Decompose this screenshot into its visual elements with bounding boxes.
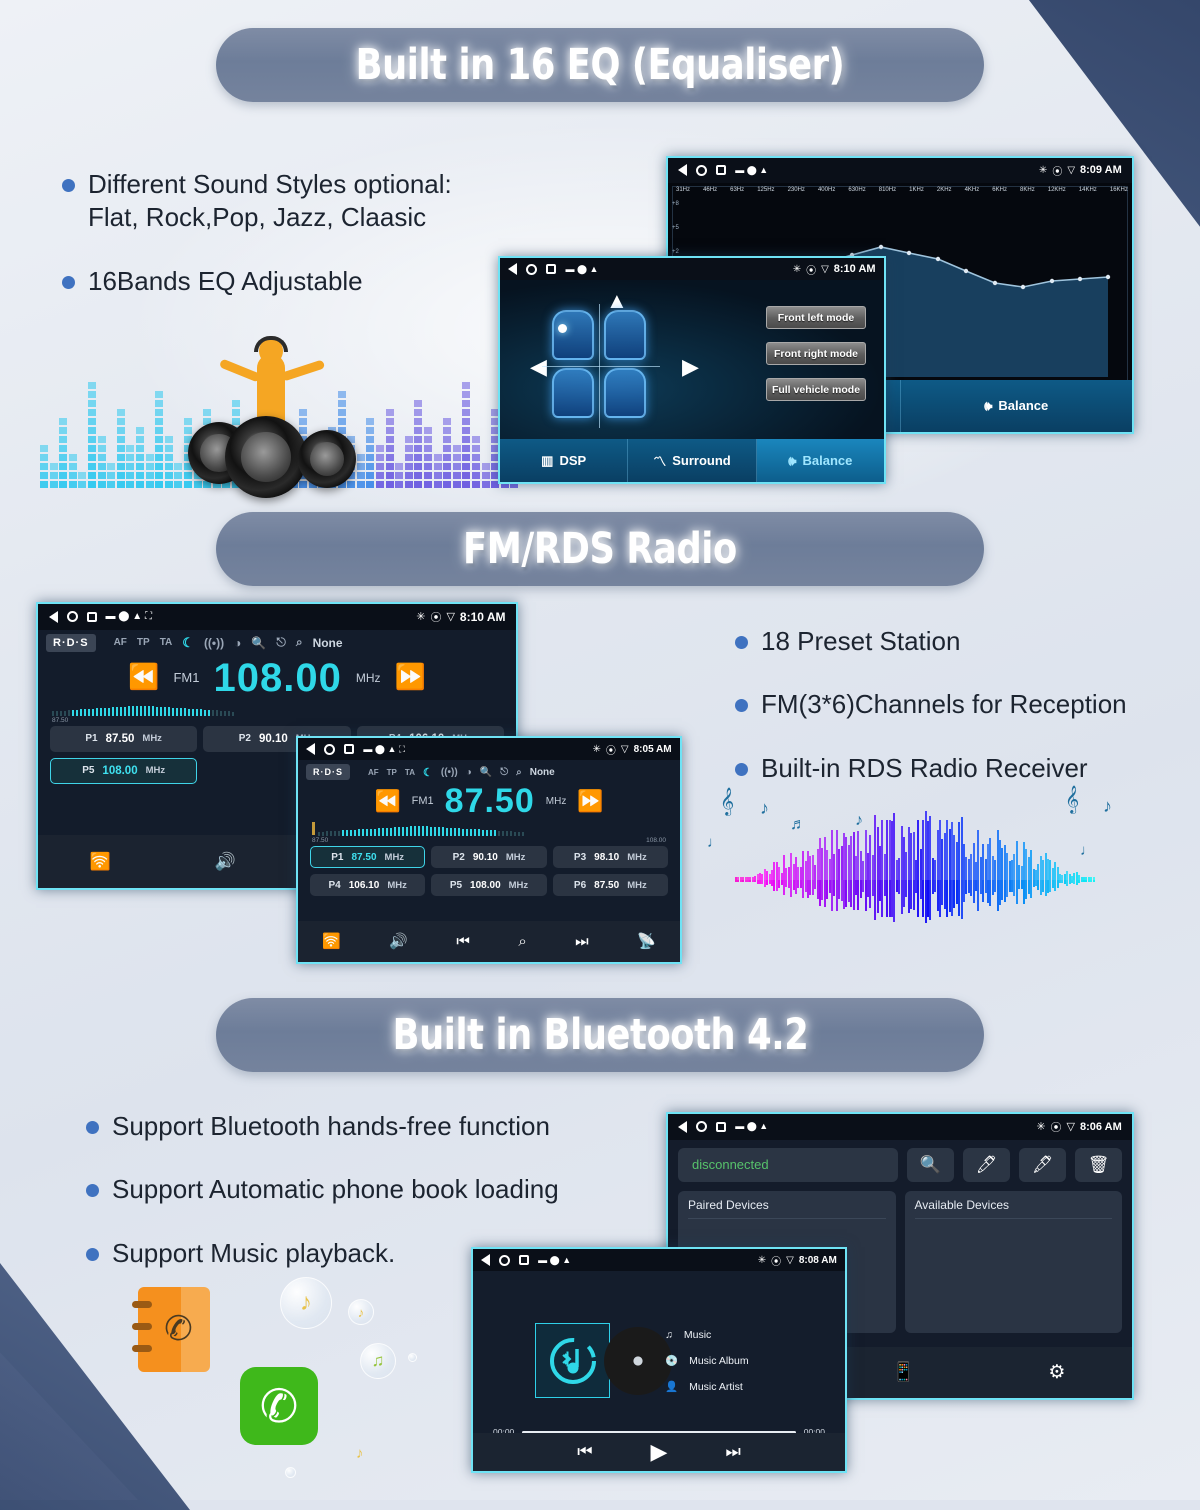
next-icon[interactable]: ⏭ xyxy=(725,1442,740,1462)
tuner-tick xyxy=(208,710,210,716)
tuner-tick xyxy=(342,830,344,836)
list-item: Support Automatic phone book loading xyxy=(86,1173,606,1206)
paired-devices-title: Paired Devices xyxy=(688,1198,886,1219)
frequency-display: 108.00 xyxy=(213,658,341,698)
signal-icon[interactable]: ((•)) xyxy=(441,767,458,778)
eq-freq-label: 8KHz xyxy=(1020,187,1035,193)
balance-position-dot[interactable] xyxy=(558,324,567,333)
meta-row: ♫Music xyxy=(665,1329,749,1341)
pty-label[interactable]: None xyxy=(313,636,343,650)
balance-icon: 🕪 xyxy=(984,398,992,414)
recents-icon[interactable] xyxy=(716,1122,726,1132)
status-time: 8:10 AM xyxy=(460,610,506,624)
tab-label: Balance xyxy=(998,398,1048,413)
preset-unit: MHz xyxy=(146,765,166,776)
arrow-right-icon[interactable]: ▶ xyxy=(682,354,699,380)
tuner-tick xyxy=(470,829,472,836)
bluetooth-icon: ✳ xyxy=(593,744,601,755)
preset-unit: MHz xyxy=(509,880,529,891)
bullet-list-eq: Different Sound Styles optional: Flat, R… xyxy=(62,168,492,320)
list-item: 18 Preset Station xyxy=(735,625,1145,658)
tuner-tick xyxy=(220,711,222,716)
play-icon[interactable]: ▶ xyxy=(651,1439,668,1465)
tuner-tick xyxy=(136,706,138,716)
band-label: FM1 xyxy=(173,670,199,685)
banner-title-eq: Built in 16 EQ (Equaliser) xyxy=(356,40,845,90)
track-metadata: ♫Music💿Music Album👤Music Artist xyxy=(665,1329,749,1393)
surround-icon: 〽 xyxy=(653,451,666,470)
af-indicator[interactable]: AF xyxy=(368,768,379,777)
tp-indicator[interactable]: TP xyxy=(387,768,397,777)
radio-main[interactable]: R·D·S AF TP TA ☾ ((•)) ◑ 🔍 ⎋ ⌕ None ⏪ FM… xyxy=(298,760,680,943)
preset-number: P1 xyxy=(331,852,343,863)
tuner-tick xyxy=(414,826,416,836)
list-item: 16Bands EQ Adjustable xyxy=(62,265,492,298)
back-icon[interactable] xyxy=(508,263,517,275)
preset-unit: MHz xyxy=(627,852,647,863)
mode-button-front-left-mode[interactable]: Front left mode xyxy=(766,306,866,329)
back-icon[interactable] xyxy=(678,164,687,176)
bullet-dot-icon xyxy=(62,276,75,289)
next-icon[interactable]: ⏭ xyxy=(575,933,589,950)
radio-screen-front[interactable]: ▬ ⬤ ▲ ⛶ ✳ ⦿ ▽ 8:05 AM R·D·S AF TP TA ☾ (… xyxy=(296,736,682,964)
device-list-icon[interactable]: 📱 xyxy=(891,1360,915,1384)
refresh-icon[interactable]: ☾ xyxy=(182,635,194,651)
bullet-text: 18 Preset Station xyxy=(761,625,960,658)
stereo-icon[interactable]: ◑ xyxy=(234,636,241,650)
download-icon[interactable]: ⎋ xyxy=(500,767,508,778)
frequency-row[interactable]: ⏪ FM1 108.00 MHz ⏩ xyxy=(38,658,516,698)
bullet-dot-icon xyxy=(62,179,75,192)
seat-rear-right xyxy=(604,368,646,418)
tuner-tick xyxy=(514,832,516,836)
tuner-tick xyxy=(80,709,82,715)
preset-unit: MHz xyxy=(506,852,526,863)
tuner-tick xyxy=(172,708,174,716)
tray-icons: ▬ ⬤ ▲ xyxy=(538,1255,571,1266)
tuner-tick xyxy=(164,707,166,715)
tuner-tick xyxy=(410,826,412,836)
tuner-tick xyxy=(84,709,86,715)
mode-button-front-right-mode[interactable]: Front right mode xyxy=(766,342,866,365)
rds-badge: R·D·S xyxy=(46,634,96,652)
back-icon[interactable] xyxy=(481,1254,490,1266)
eq-freq-label: 630Hz xyxy=(848,187,865,193)
tuner-tick xyxy=(502,831,504,836)
album-icon: 💿 xyxy=(665,1354,678,1367)
status-time: 8:05 AM xyxy=(634,744,672,755)
banner-title-radio: FM/RDS Radio xyxy=(463,524,737,574)
rds-tab-icon[interactable]: 🛜 xyxy=(90,852,111,872)
status-time: 8:06 AM xyxy=(1080,1121,1122,1133)
preset-frequency: 90.10 xyxy=(259,733,288,745)
balance-pad[interactable]: ▲ ▼ ◀ ▶ Front left modeFront right modeF… xyxy=(500,280,884,461)
preset-unit: MHz xyxy=(387,880,407,891)
recents-icon[interactable] xyxy=(716,165,726,175)
eq-freq-label: 1KHz xyxy=(909,187,924,193)
tuner-tick xyxy=(64,711,66,716)
preset-number: P2 xyxy=(453,852,465,863)
tuner-tick xyxy=(232,712,234,716)
tuner-tick xyxy=(318,832,320,836)
eq-frequency-labels: 31Hz46Hz63Hz125Hz230Hz400Hz630Hz810Hz1KH… xyxy=(676,187,1128,193)
home-icon[interactable] xyxy=(696,165,707,176)
bullet-dot-icon xyxy=(86,1184,99,1197)
eq-freq-label: 2KHz xyxy=(937,187,952,193)
tray-icons: ▬ ⬤ ▲ xyxy=(735,165,768,176)
tuner-tick xyxy=(216,710,218,715)
music-note-icon: ♫ xyxy=(665,1329,673,1341)
rds-indicator-row[interactable]: R·D·S AF TP TA ☾ ((•)) ◑ 🔍 ⎋ ⌕ None xyxy=(38,630,516,652)
available-devices-title: Available Devices xyxy=(915,1198,1113,1219)
bt-note-glyph xyxy=(546,1334,600,1388)
eq-freq-label: 16KHz xyxy=(1110,187,1128,193)
tuner-tick xyxy=(346,830,348,836)
tab-label: Balance xyxy=(802,453,852,468)
arrow-left-icon[interactable]: ◀ xyxy=(530,354,547,380)
unlink-icon[interactable]: 🖋 xyxy=(1019,1148,1066,1182)
link-icon[interactable]: 🖊 xyxy=(963,1148,1010,1182)
tray-icons: ▬ ⬤ ▲ xyxy=(735,1121,768,1132)
back-icon[interactable] xyxy=(678,1121,687,1133)
home-icon[interactable] xyxy=(526,264,537,275)
preset-number: P6 xyxy=(574,880,586,891)
scan-icon[interactable]: ⌕ xyxy=(516,767,522,778)
seat-rear-left xyxy=(552,368,594,418)
seat-layout[interactable] xyxy=(552,310,647,420)
tuner-cursor[interactable] xyxy=(312,822,315,835)
tuner-tick xyxy=(474,829,476,836)
preset-p1[interactable]: P187.50MHz xyxy=(310,846,425,868)
preset-p5[interactable]: P5108.00MHz xyxy=(431,874,546,896)
tab-surround[interactable]: 〽Surround xyxy=(628,439,756,482)
preset-number: P1 xyxy=(85,733,97,744)
home-icon[interactable] xyxy=(696,1121,707,1132)
section-banner-bluetooth: Built in Bluetooth 4.2 xyxy=(216,998,984,1072)
music-main[interactable]: ♫Music💿Music Album👤Music Artist 00:00 00… xyxy=(473,1271,845,1455)
stereo-icon[interactable]: ◑ xyxy=(466,767,472,778)
bullet-text: Different Sound Styles optional: Flat, R… xyxy=(88,168,452,235)
location-icon: ⦿ xyxy=(606,742,616,757)
dsp-icon: ▥ xyxy=(541,453,553,469)
preset-unit: MHz xyxy=(627,880,647,891)
prev-icon[interactable]: ⏮ xyxy=(456,933,470,950)
balance-screen[interactable]: ▬ ⬤ ▲ ✳ ⦿ ▽ 8:10 AM ▲ ▼ ◀ ▶ Front left m… xyxy=(498,256,886,484)
tuner-tick xyxy=(196,709,198,715)
location-icon: ⦿ xyxy=(1052,163,1062,178)
tuner-tick xyxy=(92,709,94,716)
search-icon[interactable]: 🔍 xyxy=(480,767,492,778)
tuner-tick xyxy=(156,707,158,716)
location-icon: ⦿ xyxy=(1051,1119,1062,1135)
wifi-icon: ▽ xyxy=(821,264,829,275)
signal-icon[interactable]: ((•)) xyxy=(204,636,224,650)
preset-p4[interactable]: P4106.10MHz xyxy=(310,874,425,896)
preset-p2[interactable]: P290.10MHz xyxy=(431,846,546,868)
preset-frequency: 108.00 xyxy=(470,880,501,891)
preset-frequency: 90.10 xyxy=(473,852,498,863)
tab-balance[interactable]: 🕪Balance xyxy=(757,439,884,482)
gear-icon[interactable]: ⚙ xyxy=(1048,1361,1065,1384)
home-icon[interactable] xyxy=(67,611,78,622)
volume-icon[interactable]: 🔊 xyxy=(389,932,408,950)
eq-freq-label: 230Hz xyxy=(788,187,805,193)
tab-balance[interactable]: 🕪 Balance xyxy=(901,380,1133,432)
status-bar: ▬ ⬤ ▲ ⛶ ✳ ⦿ ▽ 8:10 AM xyxy=(38,604,516,630)
tuner-tick xyxy=(96,708,98,715)
tuner-tick xyxy=(148,706,150,715)
tuner-tick xyxy=(422,826,424,836)
preset-number: P4 xyxy=(328,880,340,891)
tuner-tick xyxy=(322,832,324,836)
tuner-tick xyxy=(204,710,206,716)
tuner-tick xyxy=(458,828,460,836)
tuner-scale[interactable]: 87.50 108.00 xyxy=(312,826,666,842)
bluetooth-icon: ✳ xyxy=(1036,1120,1045,1133)
tuner-tick xyxy=(362,829,364,836)
seek-down-icon[interactable]: ⏪ xyxy=(375,791,401,812)
rds-badge: R·D·S xyxy=(306,764,350,780)
tuner-tick xyxy=(494,830,496,836)
tuner-tick xyxy=(168,707,170,715)
tuner-tick xyxy=(120,707,122,716)
tray-icons: ▬ ⬤ ▲ ⛶ xyxy=(363,744,405,755)
bullet-dot-icon xyxy=(735,763,748,776)
meta-label: Music Album xyxy=(689,1355,749,1367)
scale-max-label: 108.00 xyxy=(646,837,666,844)
volume-icon[interactable]: 🔊 xyxy=(215,852,236,872)
balance-bottom-tabs[interactable]: ▥DSP〽Surround🕪Balance xyxy=(500,439,884,482)
scan-icon[interactable]: ⌕ xyxy=(296,635,303,650)
tuner-tick xyxy=(72,710,74,716)
tp-indicator[interactable]: TP xyxy=(137,637,150,648)
tuner-tick xyxy=(430,827,432,836)
bluetooth-music-icon xyxy=(535,1323,610,1398)
tab-label: DSP xyxy=(559,453,586,468)
status-time: 8:08 AM xyxy=(799,1255,837,1266)
tuner-tick xyxy=(160,707,162,716)
tuner-tick xyxy=(490,830,492,836)
preset-frequency: 98.10 xyxy=(594,852,619,863)
tuner-tick xyxy=(88,709,90,716)
back-icon[interactable] xyxy=(306,743,315,755)
preset-unit: MHz xyxy=(142,733,162,744)
tuner-tick xyxy=(366,829,368,836)
tuner-tick xyxy=(394,827,396,836)
list-item: Support Bluetooth hands-free function xyxy=(86,1110,606,1143)
bluetooth-icon: ✳ xyxy=(758,1255,766,1266)
tuner-tick xyxy=(224,711,226,716)
seek-up-icon[interactable]: ⏩ xyxy=(395,665,426,690)
meta-label: Music xyxy=(684,1329,711,1341)
wifi-icon: ▽ xyxy=(446,610,454,623)
meta-label: Music Artist xyxy=(689,1381,743,1393)
tuner-tick xyxy=(334,831,336,836)
list-item: Built-in RDS Radio Receiver xyxy=(735,752,1145,785)
tuner-tick xyxy=(438,827,440,836)
tuner-tick xyxy=(228,711,230,715)
tuner-tick xyxy=(510,831,512,836)
mode-button-group[interactable]: Front left modeFront right modeFull vehi… xyxy=(766,306,866,401)
tuner-tick xyxy=(386,828,388,836)
tuner-tick xyxy=(446,828,448,836)
home-icon[interactable] xyxy=(324,744,335,755)
tuner-tick xyxy=(104,708,106,716)
bluetooth-icon: ✳ xyxy=(416,610,425,623)
wifi-icon: ▽ xyxy=(786,1255,794,1266)
section-banner-radio: FM/RDS Radio xyxy=(216,512,984,586)
bluetooth-music-screen[interactable]: ▬ ⬤ ▲ ✳ ⦿ ▽ 8:08 AM ♫Music💿Music Album👤M… xyxy=(471,1247,847,1473)
tuner-tick xyxy=(200,709,202,715)
tuner-tick xyxy=(108,708,110,716)
tray-icons: ▬ ⬤ ▲ xyxy=(565,264,598,275)
eq-freq-label: 125Hz xyxy=(757,187,774,193)
preset-p1[interactable]: P187.50MHz xyxy=(50,726,197,752)
tuner-tick xyxy=(522,832,524,836)
ta-indicator[interactable]: TA xyxy=(405,768,415,777)
seek-down-icon[interactable]: ⏪ xyxy=(128,665,159,690)
status-time: 8:10 AM xyxy=(834,263,876,275)
meta-row: 💿Music Album xyxy=(665,1354,749,1367)
recents-icon[interactable] xyxy=(344,744,354,754)
radio-bottom-tabs[interactable]: 🛜 🔊 ⏮ ⌕ ⏭ 📡 xyxy=(298,921,680,962)
preset-number: P5 xyxy=(82,765,94,776)
rds-indicators[interactable]: AF TP TA ☾ ((•)) ◑ 🔍 ⎋ ⌕ None xyxy=(114,635,343,651)
connection-status-field[interactable]: disconnected xyxy=(678,1148,898,1182)
preset-p5[interactable]: P5108.00MHz xyxy=(50,758,197,784)
tuner-tick xyxy=(212,710,214,715)
recents-icon[interactable] xyxy=(87,612,97,622)
tuner-tick xyxy=(506,831,508,836)
bluetooth-icon: ✳ xyxy=(793,264,801,275)
preset-unit: MHz xyxy=(385,852,405,863)
scale-min-label: 87.50 xyxy=(312,837,328,844)
tuner-tick xyxy=(56,711,58,716)
meta-row: 👤Music Artist xyxy=(665,1380,749,1393)
prev-icon[interactable]: ⏮ xyxy=(577,1442,592,1462)
tuner-tick xyxy=(374,829,376,836)
tuner-tick xyxy=(100,708,102,715)
section-banner-eq: Built in 16 EQ (Equaliser) xyxy=(216,28,984,102)
bullet-text: 16Bands EQ Adjustable xyxy=(88,265,363,298)
recents-icon[interactable] xyxy=(519,1255,529,1265)
preset-number: P5 xyxy=(450,880,462,891)
tuner-tick xyxy=(466,829,468,836)
tuner-scale[interactable]: 87.50 xyxy=(52,706,502,722)
tuner-tick xyxy=(482,830,484,836)
status-bar: ▬ ⬤ ▲ ⛶ ✳ ⦿ ▽ 8:05 AM xyxy=(298,738,680,760)
wifi-icon: ▽ xyxy=(621,744,629,755)
bullet-dot-icon xyxy=(86,1121,99,1134)
bullet-list-radio: 18 Preset Station FM(3*6)Channels for Re… xyxy=(735,625,1145,807)
eq-freq-label: 400Hz xyxy=(818,187,835,193)
tuner-tick xyxy=(418,826,420,836)
bullet-dot-icon xyxy=(86,1248,99,1261)
bullet-dot-icon xyxy=(735,699,748,712)
tuner-tick xyxy=(442,827,444,836)
mode-button-full-vehicle-mode[interactable]: Full vehicle mode xyxy=(766,378,866,401)
pty-label[interactable]: None xyxy=(530,767,555,778)
refresh-icon[interactable]: ☾ xyxy=(423,766,433,779)
tuner-tick xyxy=(60,711,62,716)
tuner-tick xyxy=(478,829,480,836)
preset-frequency: 87.50 xyxy=(352,852,377,863)
preset-number: P2 xyxy=(239,733,251,744)
download-icon[interactable]: ⎋ xyxy=(276,635,286,650)
recents-icon[interactable] xyxy=(546,264,556,274)
preset-grid[interactable]: P187.50MHzP290.10MHzP398.10MHzP4106.10MH… xyxy=(298,842,680,896)
rds-indicator-row[interactable]: R·D·S AF TP TA ☾ ((•)) ◑ 🔍 ⎋ ⌕ None xyxy=(298,760,680,780)
tuner-tick xyxy=(406,827,408,836)
home-icon[interactable] xyxy=(499,1255,510,1266)
eq-freq-label: 14KHz xyxy=(1079,187,1097,193)
wifi-icon: ▽ xyxy=(1067,165,1075,176)
tuner-tick xyxy=(390,828,392,836)
preset-frequency: 87.50 xyxy=(594,880,619,891)
frequency-row[interactable]: ⏪ FM1 87.50 MHz ⏩ xyxy=(298,784,680,818)
tuner-tick xyxy=(518,832,520,836)
tuner-tick xyxy=(68,710,70,715)
tuner-tick xyxy=(450,828,452,836)
search-icon[interactable]: 🔍 xyxy=(251,636,266,650)
preset-frequency: 108.00 xyxy=(102,765,137,777)
tuner-tick xyxy=(128,706,130,715)
back-icon[interactable] xyxy=(49,611,58,623)
tuner-tick xyxy=(358,829,360,836)
ta-indicator[interactable]: TA xyxy=(160,637,173,648)
rds-tab-icon[interactable]: 🛜 xyxy=(322,932,341,950)
frequency-unit: MHz xyxy=(356,671,381,685)
tuner-tick xyxy=(326,831,328,836)
bluetooth-icon: ✳ xyxy=(1039,165,1047,176)
available-devices-panel[interactable]: Available Devices xyxy=(905,1191,1123,1333)
search-icon[interactable]: 🔍 xyxy=(907,1148,954,1182)
tuner-tick xyxy=(498,831,500,836)
bluetooth-toolbar[interactable]: disconnected 🔍 🖊 🖋 🗑 xyxy=(678,1148,1122,1182)
tuner-tick xyxy=(76,710,78,716)
scan-tab-icon[interactable]: ⌕ xyxy=(518,933,526,950)
tuner-tick xyxy=(132,706,134,715)
tuner-tick xyxy=(378,828,380,836)
list-item: Different Sound Styles optional: Flat, R… xyxy=(62,168,492,235)
tuner-tick xyxy=(330,831,332,836)
tuner-tick xyxy=(402,827,404,836)
connection-status-text: disconnected xyxy=(692,1157,769,1172)
status-bar: ▬ ⬤ ▲ ✳ ⦿ ▽ 8:06 AM xyxy=(668,1114,1132,1140)
tuner-tick xyxy=(462,829,464,836)
rds-indicators[interactable]: AF TP TA ☾ ((•)) ◑ 🔍 ⎋ ⌕ None xyxy=(368,766,555,779)
tuner-tick xyxy=(370,829,372,836)
music-transport-bar[interactable]: ⏮ ▶ ⏭ xyxy=(473,1433,845,1471)
af-indicator[interactable]: AF xyxy=(114,637,127,648)
tuner-tick xyxy=(382,828,384,836)
band-label: FM1 xyxy=(412,795,434,807)
antenna-icon[interactable]: 📡 xyxy=(637,932,656,950)
tuner-tick xyxy=(338,831,340,836)
tuner-tick xyxy=(140,706,142,716)
tuner-tick xyxy=(486,830,488,836)
preset-p6[interactable]: P687.50MHz xyxy=(553,874,668,896)
status-time: 8:09 AM xyxy=(1080,164,1122,176)
eq-freq-label: 63Hz xyxy=(730,187,744,193)
tab-dsp[interactable]: ▥DSP xyxy=(500,439,628,482)
trash-icon[interactable]: 🗑 xyxy=(1075,1148,1122,1182)
preset-p3[interactable]: P398.10MHz xyxy=(553,846,668,868)
seek-up-icon[interactable]: ⏩ xyxy=(577,791,603,812)
tuner-tick xyxy=(112,707,114,715)
tuner-tick xyxy=(192,709,194,716)
wifi-icon: ▽ xyxy=(1067,1120,1075,1133)
